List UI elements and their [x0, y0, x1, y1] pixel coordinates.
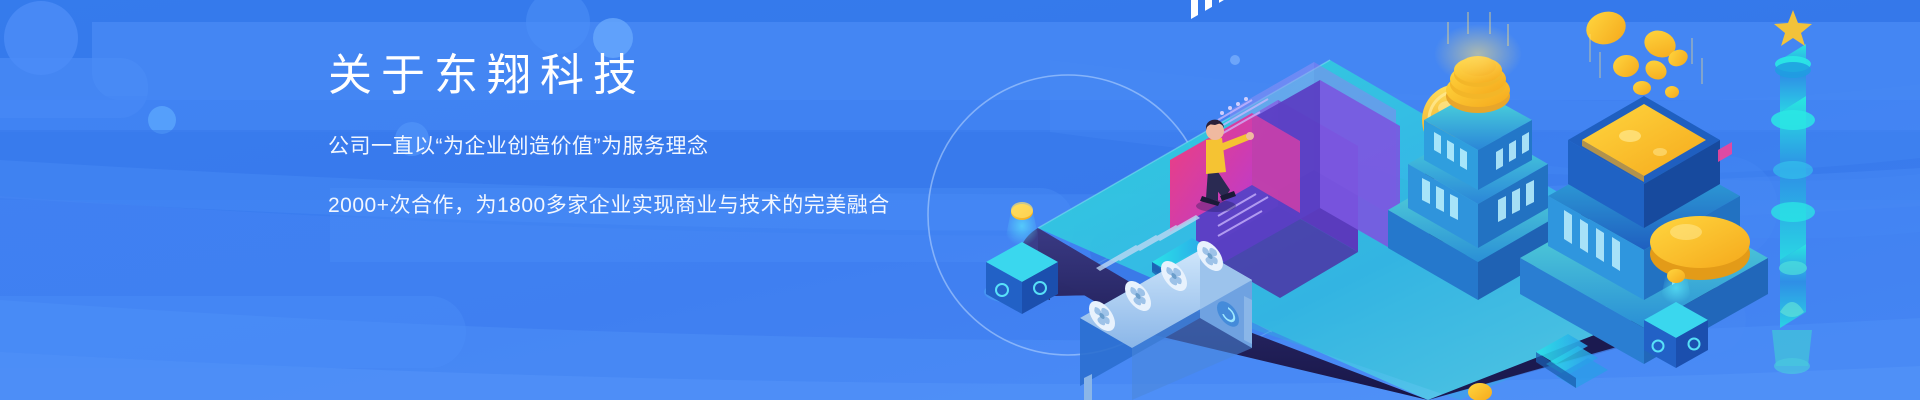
about-hero-banner: 关于东翔科技 公司一直以“为企业创造价值”为服务理念 2000+次合作，为180… [0, 0, 1920, 400]
decor-circle-right-large [1674, 156, 1778, 260]
decor-circle-small [148, 106, 176, 134]
banner-subtitle-primary: 公司一直以“为企业创造价值”为服务理念 [328, 134, 968, 159]
banner-subtitle-secondary: 2000+次合作，为1800多家企业实现商业与技术的完美融合 [328, 193, 968, 218]
banner-copy: 关于东翔科技 公司一直以“为企业创造价值”为服务理念 2000+次合作，为180… [328, 52, 968, 218]
decor-circle-topleft [4, 1, 78, 75]
decor-dot [1230, 55, 1240, 65]
page-title: 关于东翔科技 [328, 52, 968, 100]
decor-circle-right-small [1678, 286, 1746, 354]
decor-plate-lower [0, 296, 466, 368]
